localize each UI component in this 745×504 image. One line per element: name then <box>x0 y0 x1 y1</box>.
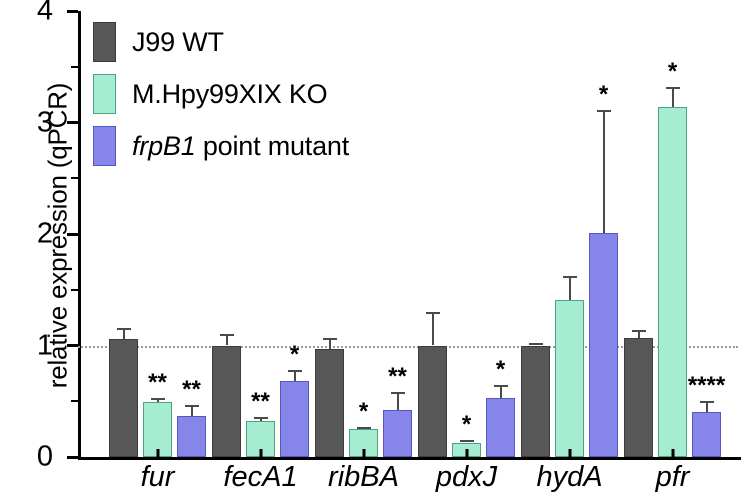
y-tick-minor <box>71 289 78 291</box>
error-bar-stem <box>672 87 674 107</box>
bar-hydA-ko <box>555 300 584 457</box>
qpcr-bar-chart-figure: relative expression (qPCR) 01234 *******… <box>0 0 745 504</box>
y-tick-major <box>67 10 78 13</box>
error-bar-cap <box>288 370 302 372</box>
x-tick-pdxJ <box>465 449 468 460</box>
y-tick-minor <box>71 177 78 179</box>
y-tick-label: 3 <box>37 108 53 137</box>
x-axis-label-hydA: hydA <box>536 462 602 494</box>
bar-pfr-wt <box>624 338 653 457</box>
bar-fecA1-mut <box>280 381 309 457</box>
error-bar-cap <box>151 398 165 400</box>
legend-label-ko: M.Hpy99XIX KO <box>132 79 327 110</box>
y-tick-label: 2 <box>37 220 53 249</box>
error-bar-cap <box>391 392 405 394</box>
significance-stars-fur-mut: ** <box>182 378 201 402</box>
legend-swatch-wt <box>93 22 116 62</box>
bar-fecA1-wt <box>212 346 241 458</box>
error-bar-cap <box>563 276 577 278</box>
x-axis-label-pfr: pfr <box>656 462 690 494</box>
y-tick-label: 1 <box>37 331 53 360</box>
bar-ribBA-mut <box>383 410 412 457</box>
error-bar-cap <box>323 338 337 340</box>
x-tick-hydA <box>568 449 571 460</box>
y-tick-minor <box>71 66 78 68</box>
y-tick-major <box>67 121 78 124</box>
significance-stars-pdxJ-mut: * <box>496 358 505 382</box>
error-bar-cap <box>220 334 234 336</box>
significance-stars-ribBA-ko: * <box>359 400 368 424</box>
bar-hydA-mut <box>589 233 618 457</box>
error-bar-cap <box>117 328 131 330</box>
error-bar-cap <box>185 405 199 407</box>
error-bar-cap <box>529 343 543 345</box>
legend-item-wt: J99 WT <box>93 16 349 68</box>
error-bar-cap <box>494 385 508 387</box>
significance-stars-pfr-ko: * <box>668 60 677 84</box>
x-axis-line <box>78 457 741 460</box>
error-bar-stem <box>569 276 571 299</box>
error-bar-cap <box>700 401 714 403</box>
x-axis-label-pdxJ: pdxJ <box>436 462 497 494</box>
error-bar-cap <box>597 110 611 112</box>
x-tick-fecA1 <box>259 449 262 460</box>
error-bar-cap <box>666 87 680 89</box>
significance-stars-pdxJ-ko: * <box>462 413 471 437</box>
legend-label-wt: J99 WT <box>132 27 224 58</box>
x-tick-pfr <box>671 449 674 460</box>
bar-pfr-ko <box>658 107 687 457</box>
chart-legend: J99 WTM.Hpy99XIX KOfrpB1 point mutant <box>93 16 349 172</box>
error-bar-stem <box>432 312 434 345</box>
significance-stars-hydA-mut: * <box>599 83 608 107</box>
legend-label-mut: frpB1 point mutant <box>132 131 349 162</box>
y-tick-major <box>67 233 78 236</box>
x-axis-label-fur: fur <box>141 462 175 494</box>
significance-stars-pfr-mut: **** <box>688 374 725 398</box>
error-bar-stem <box>397 392 399 410</box>
bar-ribBA-wt <box>315 349 344 457</box>
legend-item-ko: M.Hpy99XIX KO <box>93 68 349 120</box>
error-bar-cap <box>357 427 371 429</box>
bar-fur-wt <box>109 339 138 457</box>
y-tick-label: 4 <box>37 0 53 26</box>
bar-pdxJ-wt <box>418 346 447 458</box>
legend-item-mut: frpB1 point mutant <box>93 120 349 172</box>
significance-stars-fecA1-ko: ** <box>251 390 270 414</box>
significance-stars-ribBA-mut: ** <box>388 365 407 389</box>
legend-swatch-mut <box>93 126 116 166</box>
x-axis-label-ribBA: ribBA <box>328 462 399 494</box>
y-tick-major <box>67 456 78 459</box>
y-tick-major <box>67 344 78 347</box>
y-axis-line <box>78 11 81 457</box>
y-tick-minor <box>71 400 78 402</box>
bar-pfr-mut <box>692 412 721 457</box>
x-tick-fur <box>156 449 159 460</box>
error-bar-cap <box>254 417 268 419</box>
error-bar-stem <box>500 385 502 398</box>
error-bar-stem <box>603 110 605 233</box>
x-tick-ribBA <box>362 449 365 460</box>
significance-stars-fecA1-mut: * <box>290 343 299 367</box>
error-bar-cap <box>426 312 440 314</box>
bar-fur-mut <box>177 416 206 457</box>
error-bar-cap <box>632 330 646 332</box>
x-axis-label-fecA1: fecA1 <box>223 462 297 494</box>
bar-pdxJ-mut <box>486 398 515 457</box>
significance-stars-fur-ko: ** <box>148 371 167 395</box>
bar-hydA-wt <box>521 346 550 458</box>
error-bar-cap <box>460 440 474 442</box>
y-tick-label: 0 <box>37 443 53 472</box>
legend-label-italic-gene: frpB1 <box>132 131 196 161</box>
legend-swatch-ko <box>93 74 116 114</box>
